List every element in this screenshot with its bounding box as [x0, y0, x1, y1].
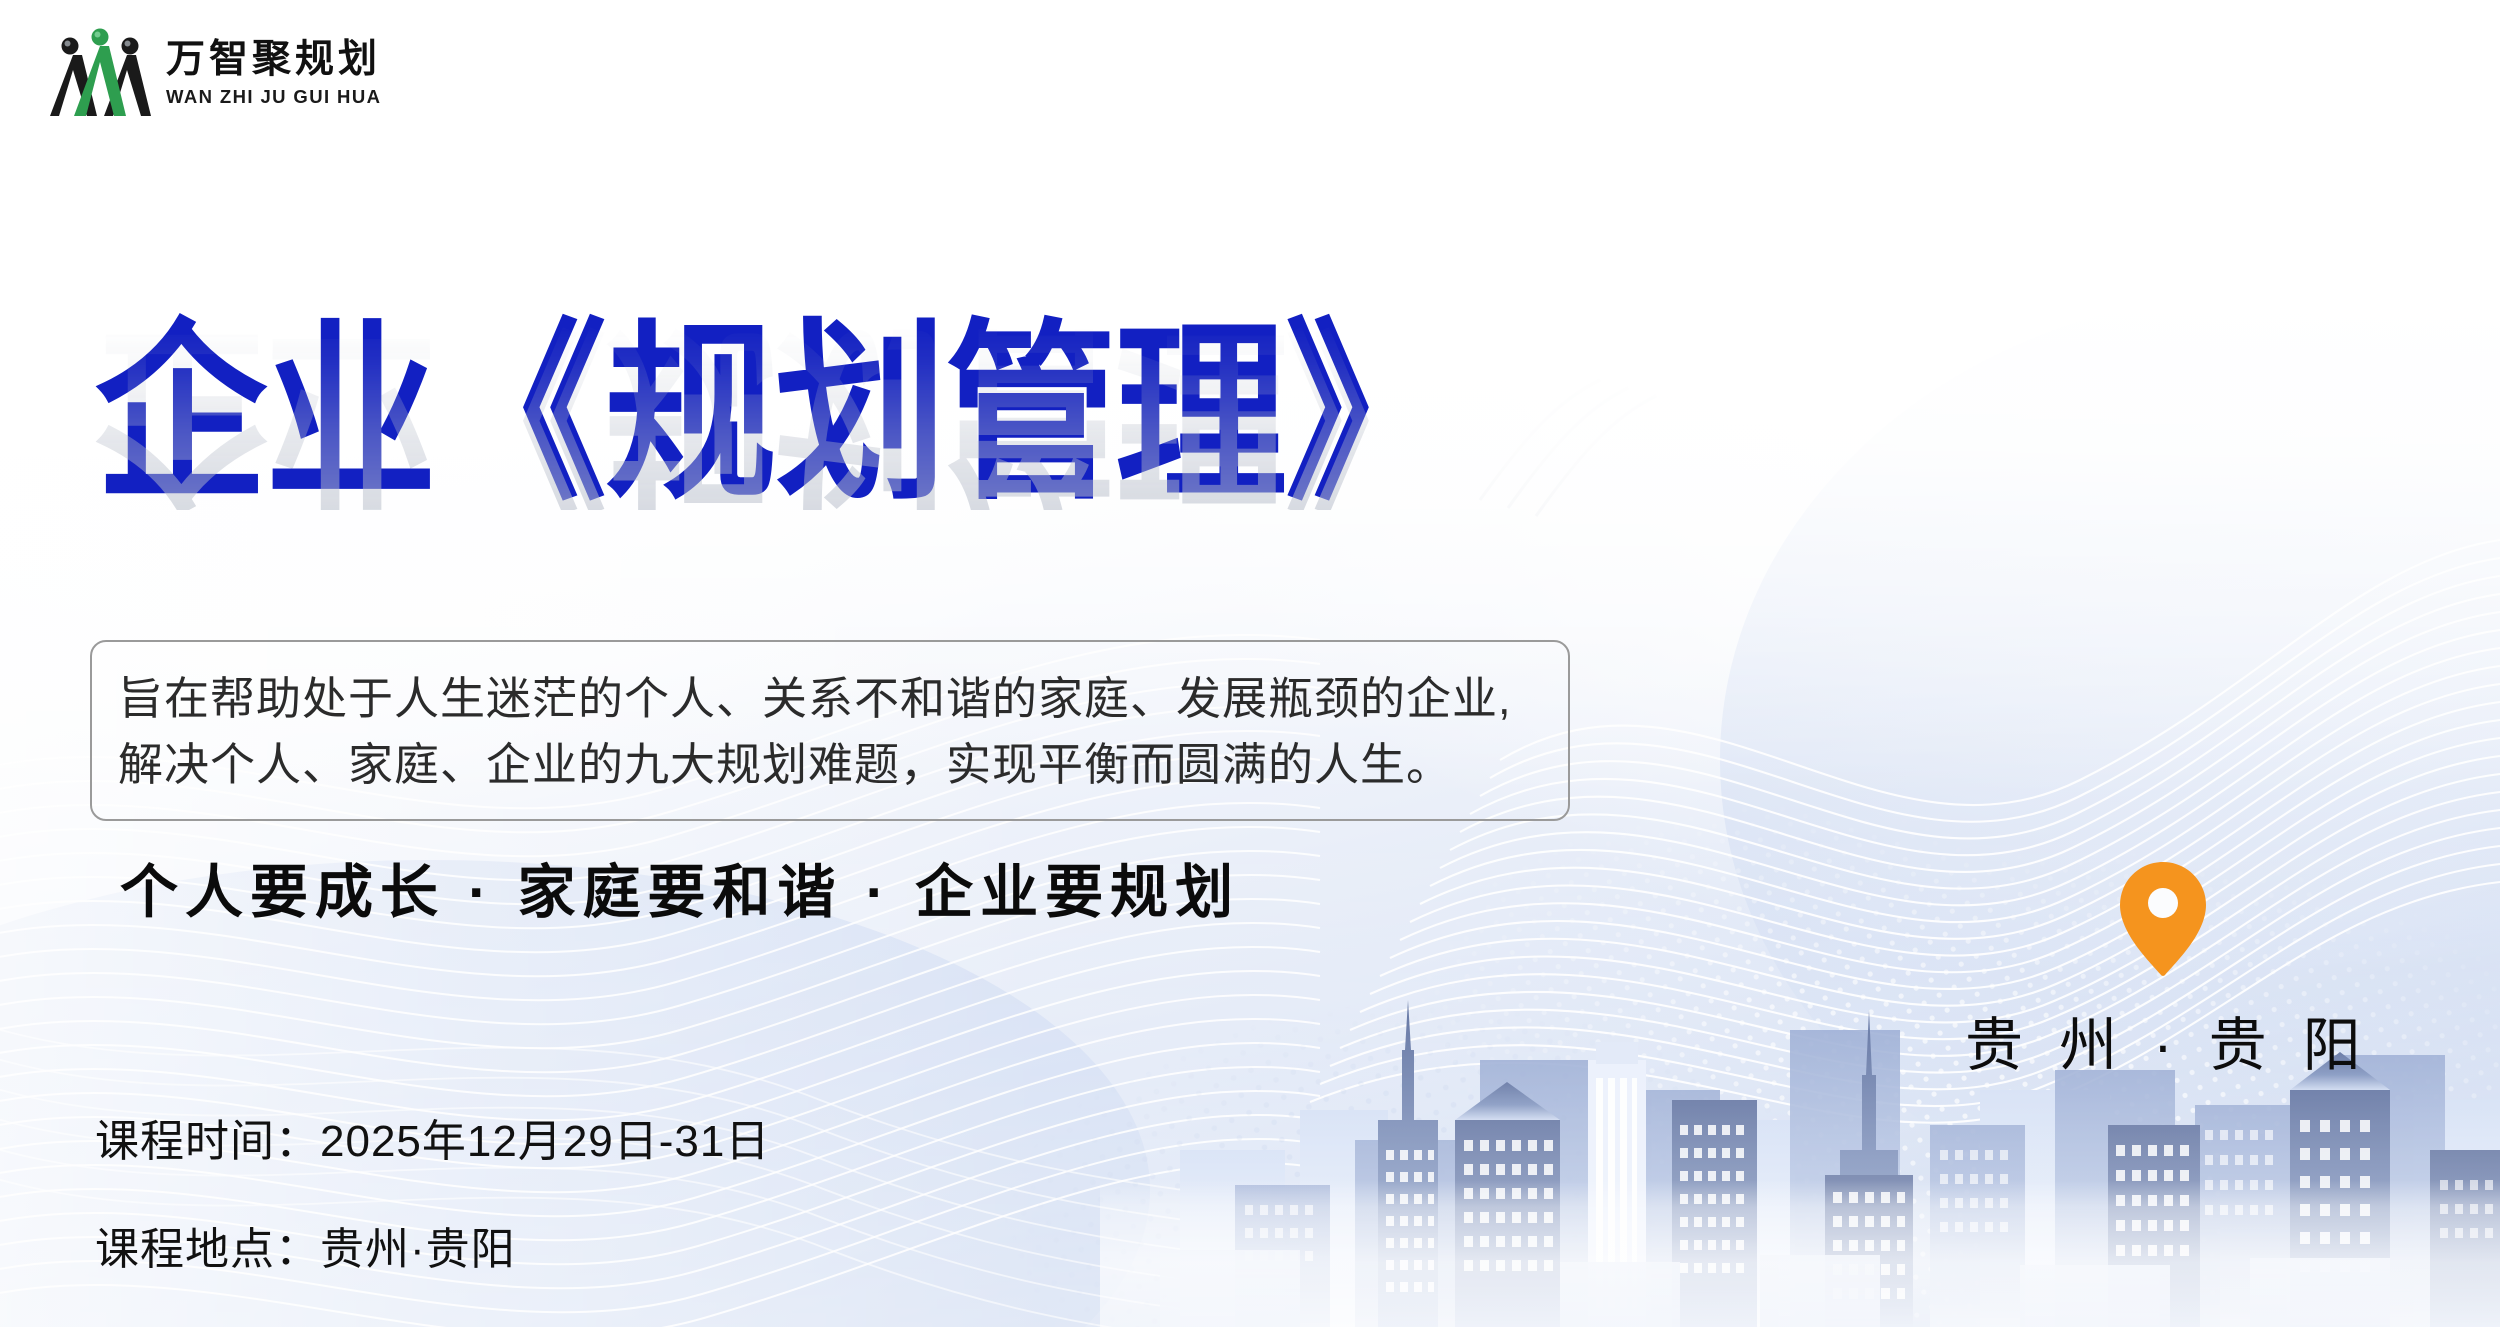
poster-canvas: 万智聚规划 WAN ZHI JU GUI HUA 企业《规划管理》 企业《规划管… [0, 0, 2500, 1327]
location-text: 贵 州 · 贵 阳 [1955, 998, 2371, 1082]
description-line-2: 解决个人、家庭、企业的九大规划难题，实现平衡而圆满的人生。 [118, 732, 1542, 798]
brand-logo[interactable]: 万智聚规划 WAN ZHI JU GUI HUA [48, 26, 381, 122]
brand-name-pinyin: WAN ZHI JU GUI HUA [166, 86, 381, 108]
location-badge: 贵 州 · 贵 阳 [1955, 860, 2371, 1082]
three-people-logo-icon [48, 26, 152, 122]
course-place: 课程地点：贵州·贵阳 [95, 1213, 770, 1277]
brand-wordmark: 万智聚规划 WAN ZHI JU GUI HUA [166, 40, 381, 108]
brand-name-cn: 万智聚规划 [166, 40, 381, 81]
course-time: 课程时间：2025年12月29日-31日 [95, 1105, 770, 1169]
page-title-reflection: 企业《规划管理》 [95, 317, 1455, 510]
description-box: 旨在帮助处于人生迷茫的个人、关系不和谐的家庭、发展瓶颈的企业, 解决个人、家庭、… [90, 640, 1570, 821]
course-info: 课程时间：2025年12月29日-31日 课程地点：贵州·贵阳 [95, 1105, 770, 1277]
hero-title-block: 企业《规划管理》 企业《规划管理》 [95, 318, 1455, 490]
description-line-1: 旨在帮助处于人生迷茫的个人、关系不和谐的家庭、发展瓶颈的企业, [118, 666, 1542, 732]
map-pin-icon [2117, 860, 2209, 978]
tagline: 个人要成长 · 家庭要和谐 · 企业要规划 [120, 845, 1240, 929]
